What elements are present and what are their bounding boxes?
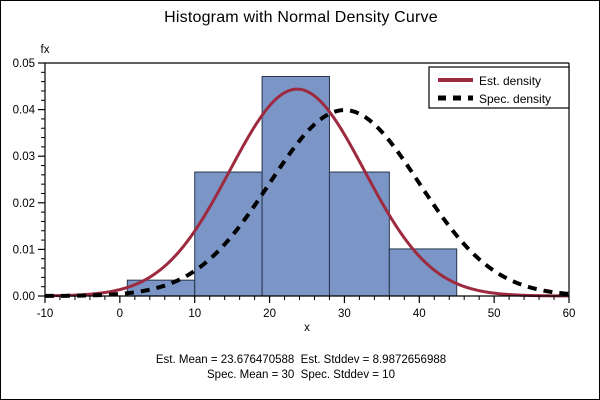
legend-label: Spec. density [479, 92, 551, 106]
y-axis-label: fx [41, 44, 50, 56]
histogram-bar [262, 77, 329, 296]
legend-label: Est. density [479, 74, 541, 88]
histogram-bar [195, 172, 262, 296]
x-tick-label: 20 [263, 308, 276, 320]
histogram-bars [127, 77, 456, 296]
x-tick-label: 30 [338, 308, 351, 320]
chart-legend: Est. densitySpec. density [429, 67, 569, 108]
x-tick-label: 0 [117, 308, 123, 320]
x-tick-label: 60 [563, 308, 576, 320]
x-axis-ticks: -100102030405060 [37, 296, 576, 320]
chart-canvas: Histogram with Normal Density Curve -100… [0, 0, 600, 400]
histogram-bar [389, 249, 456, 296]
x-tick-label: -10 [37, 308, 54, 320]
footnote-line-1: Est. Mean = 23.676470588 Est. Stddev = 8… [1, 353, 600, 368]
x-axis-label: x [304, 322, 310, 334]
y-tick-label: 0.03 [13, 151, 35, 163]
y-tick-label: 0.01 [13, 244, 35, 256]
footnote-line-2: Spec. Mean = 30 Spec. Stddev = 10 [1, 368, 600, 383]
y-tick-label: 0.02 [13, 198, 35, 210]
y-tick-label: 0.00 [13, 291, 35, 303]
x-tick-label: 40 [413, 308, 426, 320]
y-tick-label: 0.04 [13, 105, 36, 117]
x-tick-label: 10 [188, 308, 201, 320]
y-tick-label: 0.05 [13, 58, 35, 70]
footnote-block: Est. Mean = 23.676470588 Est. Stddev = 8… [1, 353, 600, 383]
x-tick-label: 50 [488, 308, 501, 320]
histogram-bar [329, 172, 389, 296]
plot-area: -100102030405060 0.000.010.020.030.040.0… [1, 1, 600, 400]
y-axis-ticks: 0.000.010.020.030.040.05 [13, 58, 45, 303]
